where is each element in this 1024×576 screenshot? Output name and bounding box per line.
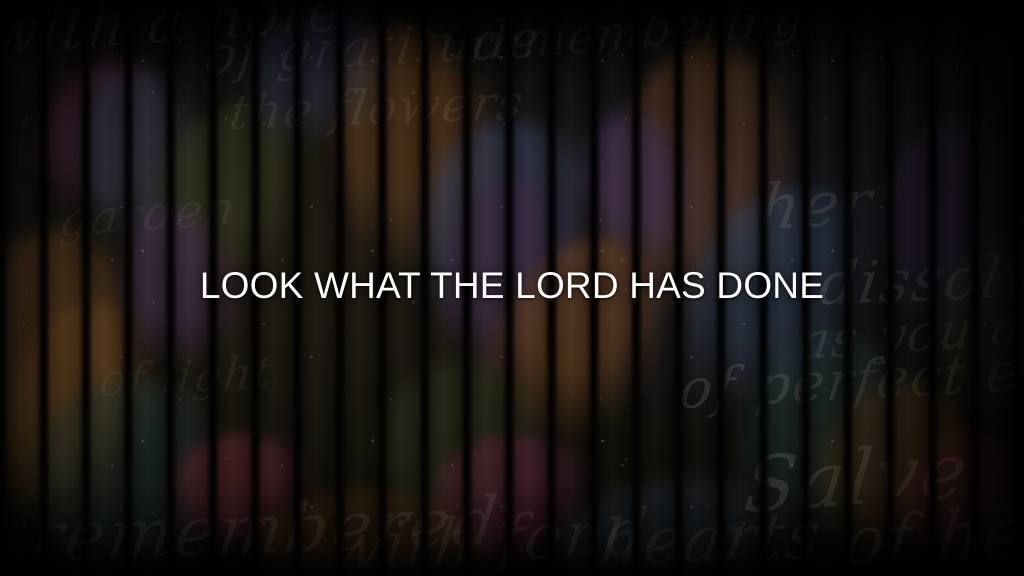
floral-blob-amber-leaf-center: [462, 206, 698, 465]
floral-blob-periwinkle-top-mid: [224, 0, 416, 159]
floral-blob-moss-center-low: [362, 343, 578, 566]
floral-blob-rust-leaf-center-up: [303, 3, 526, 277]
floral-blob-periwinkle-center: [402, 107, 608, 353]
floral-blob-teal-right-mid: [730, 321, 941, 550]
floral-blob-magenta-center-low: [414, 412, 597, 576]
headline-container: LOOK WHAT THE LORD HAS DONE: [0, 266, 1024, 306]
script-text: garden: [58, 188, 238, 242]
script-text: the flowers: [227, 82, 527, 136]
script-text: with a note: [0, 0, 348, 60]
script-text: of gratitude: [202, 16, 545, 81]
floral-blob-magenta-bloom-left: [24, 45, 196, 224]
script-text: remembering: [468, 0, 807, 68]
floral-blob-blue-bottom-band: [556, 472, 804, 576]
script-text: as you are: [798, 300, 1024, 365]
floral-blob-rust-bottom-band: [246, 481, 514, 576]
floral-blob-crimson-far-right: [890, 419, 1024, 571]
script-text: remembered: [26, 491, 504, 569]
script-text: of light: [98, 353, 276, 402]
worship-slide: with a noteof gratitudethe flowersrememb…: [0, 0, 1024, 576]
script-text: with fond: [327, 503, 653, 576]
floral-blob-amber-right-low: [796, 361, 994, 576]
floral-blob-steel-blue-upper-l: [61, 60, 219, 250]
floral-blob-olive-far-right: [931, 234, 1024, 426]
script-text: of perfect evening: [677, 338, 1024, 415]
script-text: hearts: [596, 508, 826, 574]
floral-blob-violet-cluster-right: [563, 96, 718, 275]
floral-blob-crimson-petal-lower: [152, 410, 317, 570]
script-text: her: [757, 174, 877, 236]
script-text: Salve: [741, 436, 973, 521]
floral-blob-teal-field-lower-l: [20, 370, 240, 576]
floral-blob-amber-glow-left: [0, 293, 143, 508]
script-text: of her: [841, 501, 1024, 572]
slide-headline: LOOK WHAT THE LORD HAS DONE: [200, 266, 824, 306]
